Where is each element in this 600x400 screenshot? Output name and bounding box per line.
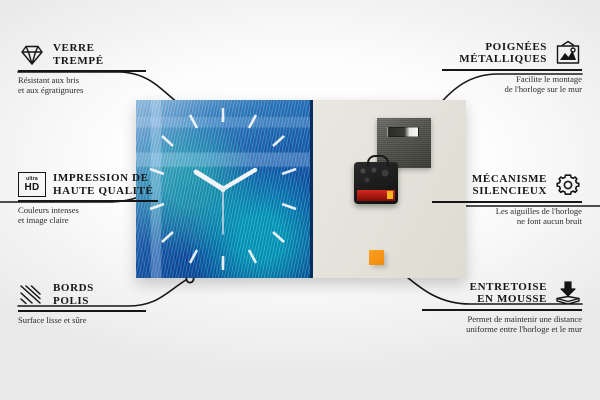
feature-title-row: BORDS POLIS [18, 282, 146, 307]
clock-mechanism-part [354, 162, 398, 204]
feature-poignees-metalliques[interactable]: POIGNÉES MÉTALLIQUES Facilite le montage… [442, 40, 582, 94]
infographic-canvas: VERRE TREMPÉ Résistant aux bris et aux é… [0, 0, 600, 400]
feature-verre-trempe[interactable]: VERRE TREMPÉ Résistant aux bris et aux é… [18, 42, 146, 95]
feature-subtitle: Permet de maintenir une distance uniform… [422, 314, 582, 335]
feature-impression-haute-qualite[interactable]: ultra HD IMPRESSION DE HAUTE QUALITÉ Cou… [18, 172, 158, 225]
feature-divider [442, 69, 582, 71]
feature-title-row: POIGNÉES MÉTALLIQUES [442, 40, 582, 66]
feature-bords-polis[interactable]: BORDS POLIS Surface lisse et sûre [18, 282, 146, 325]
feature-title-row: ENTRETOISE EN MOUSSE [422, 280, 582, 306]
clock-center-cap [220, 186, 226, 192]
feature-divider [18, 310, 146, 312]
clock-minute-hand [223, 170, 255, 189]
clock-hour-hand [196, 172, 223, 189]
feature-subtitle: Couleurs intenses et image claire [18, 205, 158, 226]
feature-title-row: VERRE TREMPÉ [18, 42, 146, 67]
feature-title: VERRE TREMPÉ [53, 42, 104, 67]
feature-divider [422, 309, 582, 311]
hanger-slot [387, 127, 419, 137]
mechanism-hanging-loop [367, 155, 389, 167]
feature-title: ENTRETOISE EN MOUSSE [470, 281, 547, 306]
feature-divider [432, 201, 582, 203]
ultra-hd-badge-icon: ultra HD [18, 172, 46, 197]
diamond-icon [18, 43, 46, 67]
feature-title-row: MÉCANISME SILENCIEUX [432, 172, 582, 198]
clock-dial [136, 100, 310, 278]
feature-title: MÉCANISME SILENCIEUX [472, 173, 547, 198]
feature-subtitle: Résistant aux bris et aux égratignures [18, 75, 146, 96]
feature-mecanisme-silencieux[interactable]: MÉCANISME SILENCIEUX Les aiguilles de l'… [432, 172, 582, 226]
foam-spacer-arrow-icon [554, 280, 582, 306]
feature-title: BORDS POLIS [53, 282, 94, 307]
clock-front-panel [136, 100, 313, 278]
feature-title: POIGNÉES MÉTALLIQUES [459, 41, 547, 66]
picture-hanger-icon [554, 40, 582, 66]
battery-part [357, 190, 395, 201]
feature-title: IMPRESSION DE HAUTE QUALITÉ [53, 172, 153, 197]
gear-icon [554, 172, 582, 198]
feature-entretoise-en-mousse[interactable]: ENTRETOISE EN MOUSSE Permet de maintenir… [422, 280, 582, 334]
ultra-hd-badge-main-text: HD [24, 183, 39, 193]
feature-subtitle: Facilite le montage de l'horloge sur le … [442, 74, 582, 95]
feature-divider [18, 70, 146, 72]
polished-edges-icon [18, 283, 46, 307]
feature-title-row: ultra HD IMPRESSION DE HAUTE QUALITÉ [18, 172, 158, 197]
feature-subtitle: Les aiguilles de l'horloge ne font aucun… [432, 206, 582, 227]
ultra-hd-badge-top-text: ultra [26, 177, 38, 182]
product-image [136, 100, 466, 278]
feature-divider [18, 200, 158, 202]
mechanism-housing-detail [358, 167, 394, 185]
feature-subtitle: Surface lisse et sûre [18, 315, 146, 325]
foam-spacer-part [369, 250, 384, 265]
